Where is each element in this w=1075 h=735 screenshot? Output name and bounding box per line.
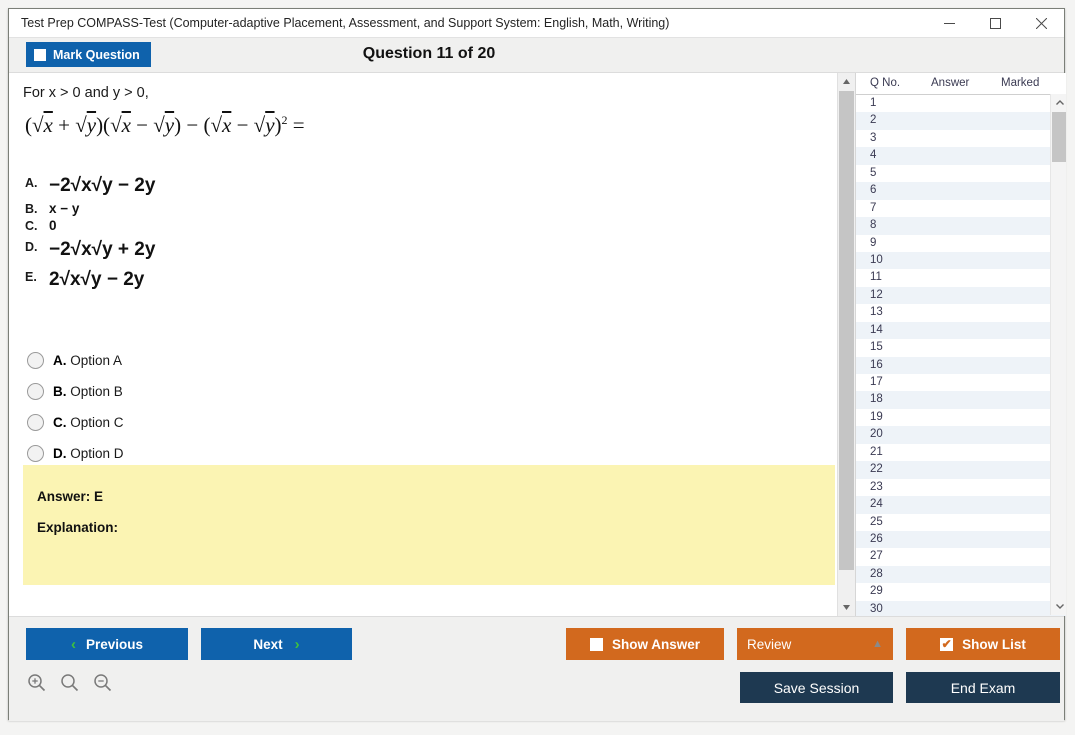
next-button-label: Next — [253, 637, 282, 652]
explanation-heading: Explanation: — [37, 520, 821, 535]
question-list-row[interactable]: 16 — [856, 357, 1066, 374]
question-list-row[interactable]: 13 — [856, 304, 1066, 321]
show-answer-button[interactable]: Show Answer — [566, 628, 724, 660]
question-list-row[interactable]: 4 — [856, 147, 1066, 164]
title-bar: Test Prep COMPASS-Test (Computer-adaptiv… — [9, 9, 1064, 38]
radio-option-b[interactable]: B. Option B — [23, 379, 835, 404]
radio-option-d-text: D. Option D — [53, 446, 124, 461]
maximize-icon[interactable] — [972, 9, 1018, 38]
question-stem: For x > 0 and y > 0, — [23, 85, 149, 101]
question-formula: (√x + √y)(√x − √y) − (√x − √y)2 = — [25, 113, 305, 138]
question-list-row[interactable]: 23 — [856, 479, 1066, 496]
review-dropdown[interactable]: Review ▲ — [737, 628, 893, 660]
radio-option-b-text: B. Option B — [53, 384, 123, 399]
question-list-row[interactable]: 15 — [856, 339, 1066, 356]
question-list-row[interactable]: 19 — [856, 409, 1066, 426]
question-list-row[interactable]: 3 — [856, 130, 1066, 147]
window-controls — [926, 9, 1064, 38]
choice-expression-b: x − y — [49, 201, 79, 216]
previous-button[interactable]: ‹ Previous — [26, 628, 188, 660]
answer-text: Answer: E — [37, 489, 821, 504]
choice-label-e: E. — [25, 270, 49, 284]
question-list-row[interactable]: 14 — [856, 322, 1066, 339]
answer-choices-list: A. −2√x√y − 2y B. x − y C. 0 D. −2√x√y +… — [25, 171, 625, 295]
zoom-toolbar — [27, 673, 112, 692]
choice-expression-c: 0 — [49, 218, 57, 233]
choice-label-d: D. — [25, 240, 49, 254]
close-icon[interactable] — [1018, 9, 1064, 38]
question-list-row[interactable]: 30 — [856, 601, 1066, 616]
question-list-row[interactable]: 29 — [856, 583, 1066, 600]
chevron-right-icon: › — [295, 636, 300, 653]
answer-choice-d: D. −2√x√y + 2y — [25, 235, 625, 257]
radio-icon[interactable] — [27, 414, 44, 431]
question-list-row[interactable]: 9 — [856, 235, 1066, 252]
question-list-row[interactable]: 6 — [856, 182, 1066, 199]
radio-option-c-label: Option C — [70, 415, 123, 430]
chevron-left-icon: ‹ — [71, 636, 76, 653]
window-title: Test Prep COMPASS-Test (Computer-adaptiv… — [21, 16, 669, 30]
list-scrollbar-thumb[interactable] — [1052, 112, 1066, 162]
question-list-row[interactable]: 25 — [856, 514, 1066, 531]
question-list-row[interactable]: 26 — [856, 531, 1066, 548]
question-list-row[interactable]: 10 — [856, 252, 1066, 269]
chevron-up-icon: ▲ — [872, 638, 883, 650]
list-scroll-up-icon[interactable] — [1051, 94, 1068, 111]
previous-button-label: Previous — [86, 637, 143, 652]
list-scroll-down-icon[interactable] — [1051, 598, 1068, 615]
content-area: For x > 0 and y > 0, (√x + √y)(√x − √y) … — [9, 73, 1064, 616]
radio-option-d-letter: D. — [53, 446, 67, 461]
radio-icon[interactable] — [27, 352, 44, 369]
question-list-row[interactable]: 21 — [856, 444, 1066, 461]
question-list-row[interactable]: 12 — [856, 287, 1066, 304]
choice-label-c: C. — [25, 219, 49, 233]
show-answer-checkbox[interactable] — [590, 638, 603, 651]
scroll-down-icon[interactable] — [838, 599, 855, 616]
radio-icon[interactable] — [27, 445, 44, 462]
column-header-answer: Answer — [931, 77, 969, 89]
radio-option-d[interactable]: D. Option D — [23, 441, 835, 466]
question-list-row[interactable]: 28 — [856, 566, 1066, 583]
answer-choice-e: E. 2√x√y − 2y — [25, 265, 625, 287]
question-list-row[interactable]: 1 — [856, 95, 1066, 112]
scrollbar-thumb[interactable] — [839, 91, 854, 570]
radio-option-c-letter: C. — [53, 415, 67, 430]
radio-option-a-text: A. Option A — [53, 353, 122, 368]
question-pane-scrollbar[interactable] — [837, 73, 855, 616]
question-header-bar: Mark Question Question 11 of 20 — [9, 38, 1064, 73]
choice-expression-d: −2√x√y + 2y — [49, 239, 155, 261]
save-session-label: Save Session — [774, 680, 860, 696]
footer-toolbar: ‹ Previous Next › Show Answer Review ▲ ✔… — [9, 616, 1064, 721]
minimize-icon[interactable] — [926, 9, 972, 38]
question-list-scrollbar[interactable] — [1050, 94, 1066, 615]
question-pane: For x > 0 and y > 0, (√x + √y)(√x − √y) … — [9, 73, 837, 616]
answer-choice-c: C. 0 — [25, 218, 625, 233]
page-title: Question 11 of 20 — [9, 45, 1064, 63]
radio-option-b-label: Option B — [70, 384, 123, 399]
radio-option-a[interactable]: A. Option A — [23, 348, 835, 373]
question-list-panel: Q No. Answer Marked 12345678910111213141… — [855, 73, 1066, 616]
choice-label-b: B. — [25, 202, 49, 216]
column-header-q-no: Q No. — [870, 77, 900, 89]
question-list-row[interactable]: 17 — [856, 374, 1066, 391]
radio-icon[interactable] — [27, 383, 44, 400]
radio-option-c-text: C. Option C — [53, 415, 124, 430]
question-list-row[interactable]: 8 — [856, 217, 1066, 234]
show-list-button[interactable]: ✔ Show List — [906, 628, 1060, 660]
application-window: Test Prep COMPASS-Test (Computer-adaptiv… — [0, 0, 1075, 735]
zoom-reset-icon[interactable] — [60, 673, 79, 692]
radio-option-d-label: Option D — [70, 446, 123, 461]
main-window: Test Prep COMPASS-Test (Computer-adaptiv… — [8, 8, 1065, 720]
save-session-button[interactable]: Save Session — [740, 672, 893, 703]
next-button[interactable]: Next › — [201, 628, 352, 660]
choice-label-a: A. — [25, 176, 49, 190]
show-list-checkbox[interactable]: ✔ — [940, 638, 953, 651]
end-exam-label: End Exam — [951, 680, 1016, 696]
show-list-label: Show List — [962, 637, 1026, 652]
question-list-row[interactable]: 5 — [856, 165, 1066, 182]
answer-choice-a: A. −2√x√y − 2y — [25, 171, 625, 193]
question-list-row[interactable]: 24 — [856, 496, 1066, 513]
choice-expression-a: −2√x√y − 2y — [49, 175, 155, 197]
question-list-row[interactable]: 11 — [856, 269, 1066, 286]
review-label: Review — [747, 637, 872, 652]
radio-option-a-label: Option A — [70, 353, 122, 368]
end-exam-button[interactable]: End Exam — [906, 672, 1060, 703]
scroll-up-icon[interactable] — [838, 73, 855, 90]
choice-expression-e: 2√x√y − 2y — [49, 269, 144, 291]
question-list-row[interactable]: 7 — [856, 200, 1066, 217]
zoom-in-icon[interactable] — [27, 673, 46, 692]
question-list-header: Q No. Answer Marked — [856, 73, 1066, 95]
check-icon: ✔ — [942, 638, 952, 650]
answer-explanation-panel: Answer: E Explanation: — [23, 465, 835, 585]
radio-option-a-letter: A. — [53, 353, 67, 368]
radio-option-b-letter: B. — [53, 384, 67, 399]
show-answer-label: Show Answer — [612, 637, 700, 652]
question-list-rows: 1234567891011121314151617181920212223242… — [856, 95, 1066, 616]
zoom-out-icon[interactable] — [93, 673, 112, 692]
answer-choice-b: B. x − y — [25, 201, 625, 216]
column-header-marked: Marked — [1001, 77, 1039, 89]
question-list-row[interactable]: 20 — [856, 426, 1066, 443]
question-list-row[interactable]: 2 — [856, 112, 1066, 129]
question-list-row[interactable]: 27 — [856, 548, 1066, 565]
question-list-row[interactable]: 22 — [856, 461, 1066, 478]
radio-option-c[interactable]: C. Option C — [23, 410, 835, 435]
question-list-row[interactable]: 18 — [856, 391, 1066, 408]
